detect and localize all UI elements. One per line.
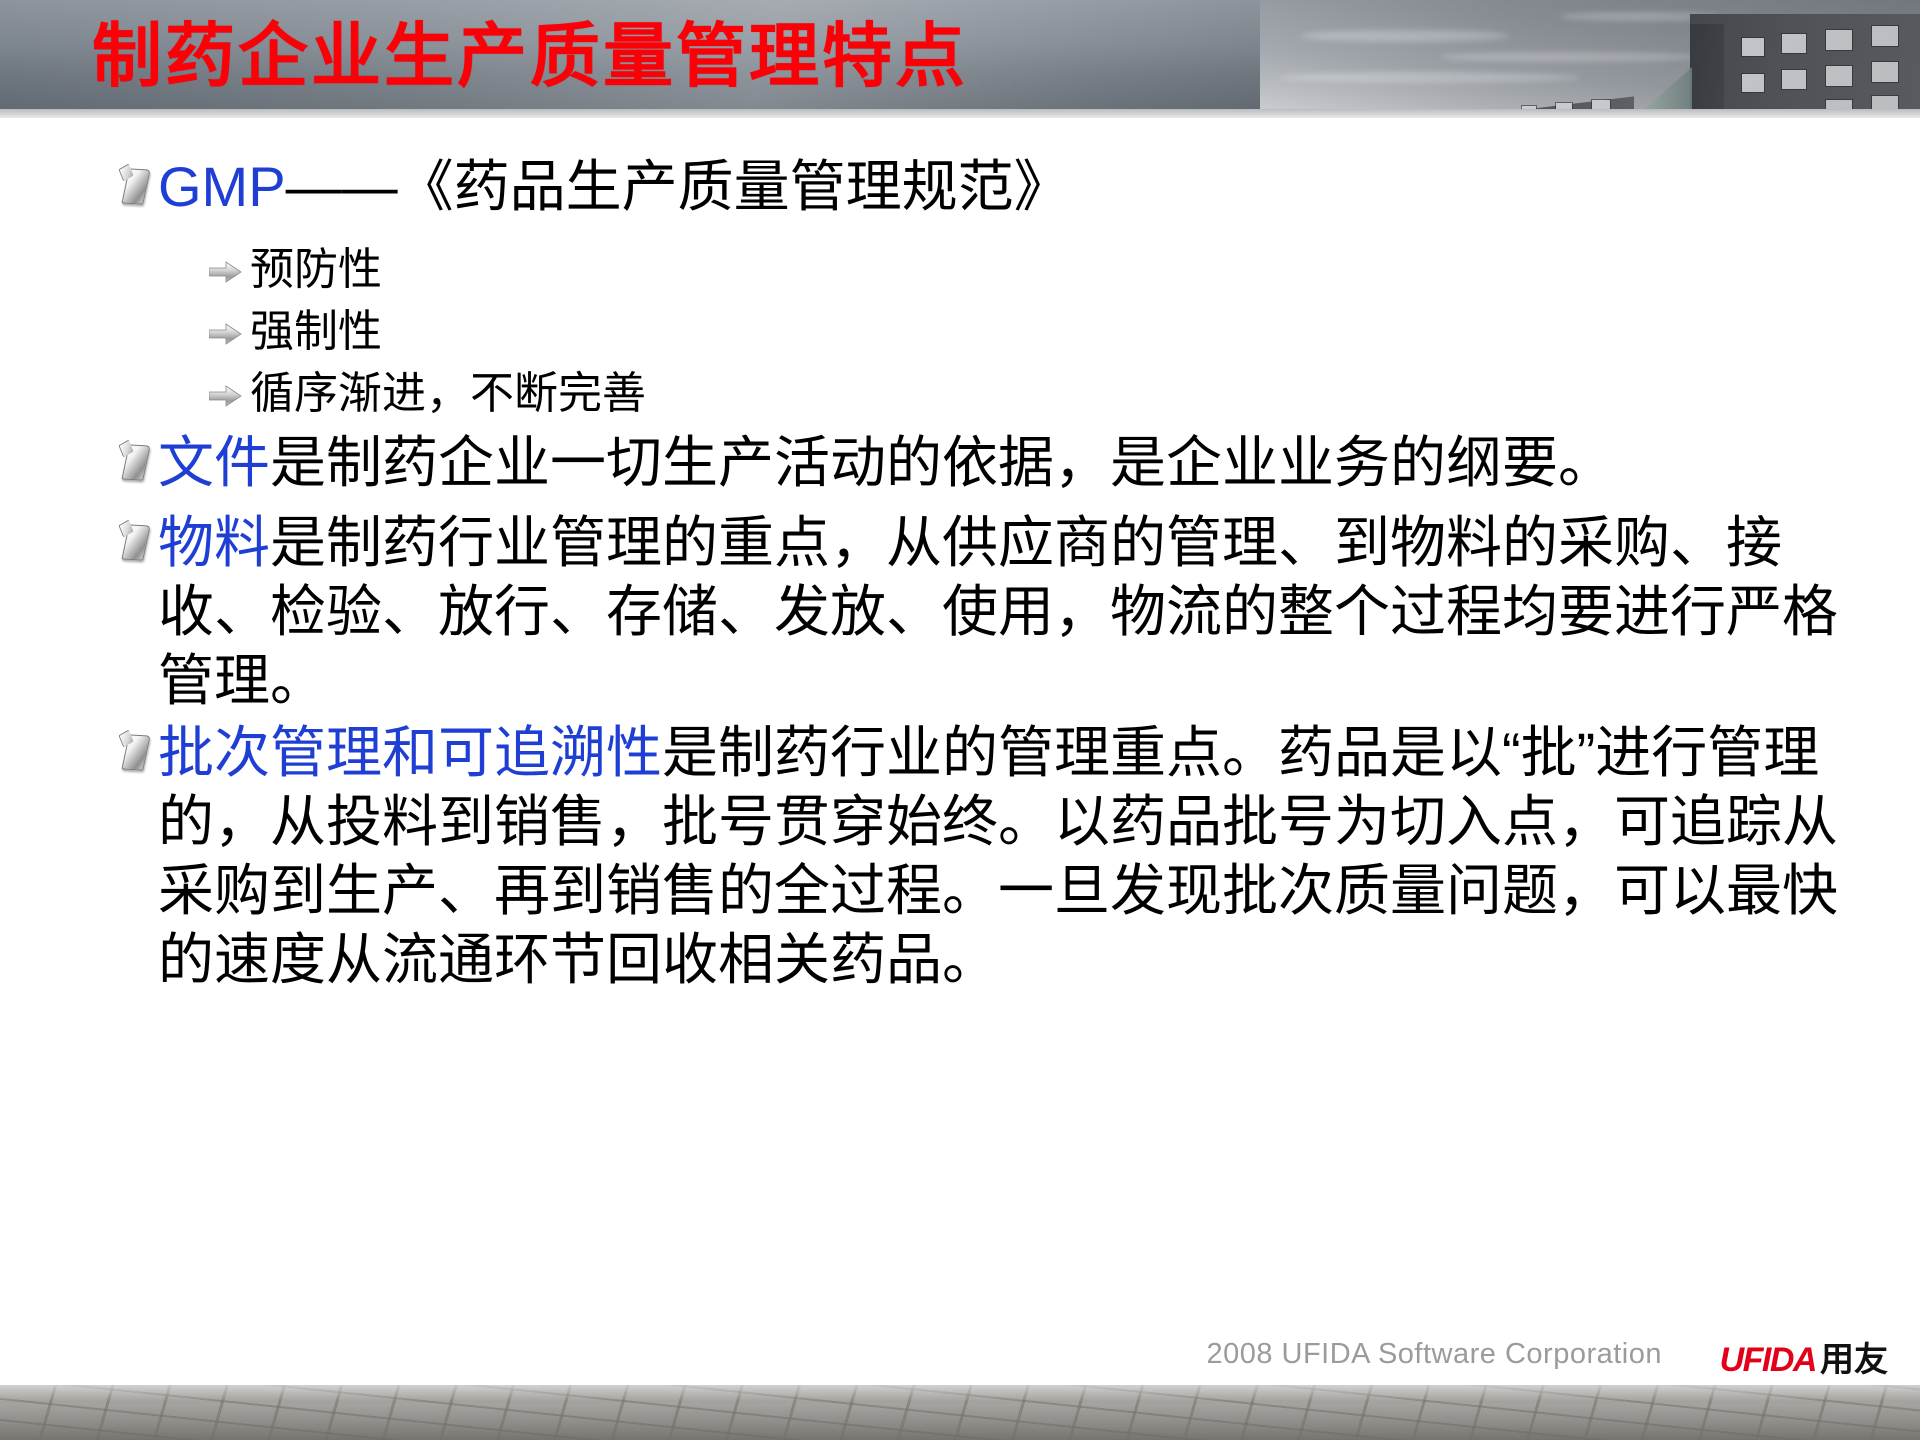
page-bullet-icon: [118, 442, 154, 486]
page-bullet-icon: [118, 732, 154, 776]
bullet-row: 物料是制药行业管理的重点，从供应商的管理、到物料的采购、接收、检验、放行、存储、…: [0, 508, 1920, 715]
bullet-row: 预防性: [0, 242, 1920, 298]
header-bottom-strip: [0, 109, 1920, 118]
bullet-level1: 批次管理和可追溯性是制药行业的管理重点。药品是以“批”进行管理的，从投料到销售，…: [0, 718, 1920, 994]
bullet-row: 循序渐进，不断完善: [0, 366, 1920, 422]
bullet-text: 文件是制药企业一切生产活动的依据，是企业业务的纲要。: [158, 428, 1614, 497]
bullet-text: 预防性: [250, 242, 382, 298]
arrow-bullet-icon: [206, 254, 248, 292]
bullet-level1: GMP——《药品生产质量管理规范》: [0, 152, 1920, 221]
bullet-row: GMP——《药品生产质量管理规范》: [0, 152, 1920, 221]
bullet-text: 批次管理和可追溯性是制药行业的管理重点。药品是以“批”进行管理的，从投料到销售，…: [158, 718, 1884, 994]
arrow-bullet-icon: [206, 316, 248, 354]
bullet-rest-text: 是制药行业管理的重点，从供应商的管理、到物料的采购、接收、检验、放行、存储、发放…: [158, 511, 1838, 712]
arrow-bullet-icon: [206, 378, 248, 416]
bullet-rest-text: ——《药品生产质量管理规范》: [286, 155, 1070, 218]
bullet-highlight-text: GMP: [158, 155, 286, 218]
page-bullet-icon: [118, 522, 154, 566]
bullet-row: 文件是制药企业一切生产活动的依据，是企业业务的纲要。: [0, 428, 1920, 497]
slide-footer: 2008 UFIDA Software Corporation UFIDA用友: [0, 1328, 1920, 1440]
bullet-row: 强制性: [0, 304, 1920, 360]
slide-header: 制药企业生产质量管理特点: [0, 0, 1920, 118]
bullet-highlight-text: 物料: [158, 511, 270, 574]
bullet-level2: 预防性: [0, 242, 1920, 298]
bullet-text: 循序渐进，不断完善: [250, 366, 646, 422]
bullet-text: GMP——《药品生产质量管理规范》: [158, 152, 1070, 221]
bullet-text: 强制性: [250, 304, 382, 360]
footer-pavement-fade: [0, 1385, 1920, 1440]
ufida-logo: UFIDA用友: [1720, 1332, 1888, 1381]
page-bullet-icon: [118, 166, 154, 210]
bullet-level2: 强制性: [0, 304, 1920, 360]
bullet-rest-text: 是制药企业一切生产活动的依据，是企业业务的纲要。: [270, 431, 1614, 494]
bullet-text: 物料是制药行业管理的重点，从供应商的管理、到物料的采购、接收、检验、放行、存储、…: [158, 508, 1884, 715]
bullet-highlight-text: 文件: [158, 431, 270, 494]
bullet-row: 批次管理和可追溯性是制药行业的管理重点。药品是以“批”进行管理的，从投料到销售，…: [0, 718, 1920, 994]
footer-copyright: 2008 UFIDA Software Corporation: [1206, 1338, 1662, 1371]
page-title: 制药企业生产质量管理特点: [92, 6, 968, 106]
slide-body: GMP——《药品生产质量管理规范》 预防性: [0, 118, 1920, 1328]
ufida-logo-latin: UFIDA: [1720, 1341, 1816, 1379]
bullet-level2: 循序渐进，不断完善: [0, 366, 1920, 422]
bullet-highlight-text: 批次管理和可追溯性: [158, 721, 662, 784]
ufida-logo-chinese: 用友: [1820, 1341, 1888, 1379]
bullet-level1: 文件是制药企业一切生产活动的依据，是企业业务的纲要。: [0, 428, 1920, 497]
bullet-level1: 物料是制药行业管理的重点，从供应商的管理、到物料的采购、接收、检验、放行、存储、…: [0, 508, 1920, 715]
